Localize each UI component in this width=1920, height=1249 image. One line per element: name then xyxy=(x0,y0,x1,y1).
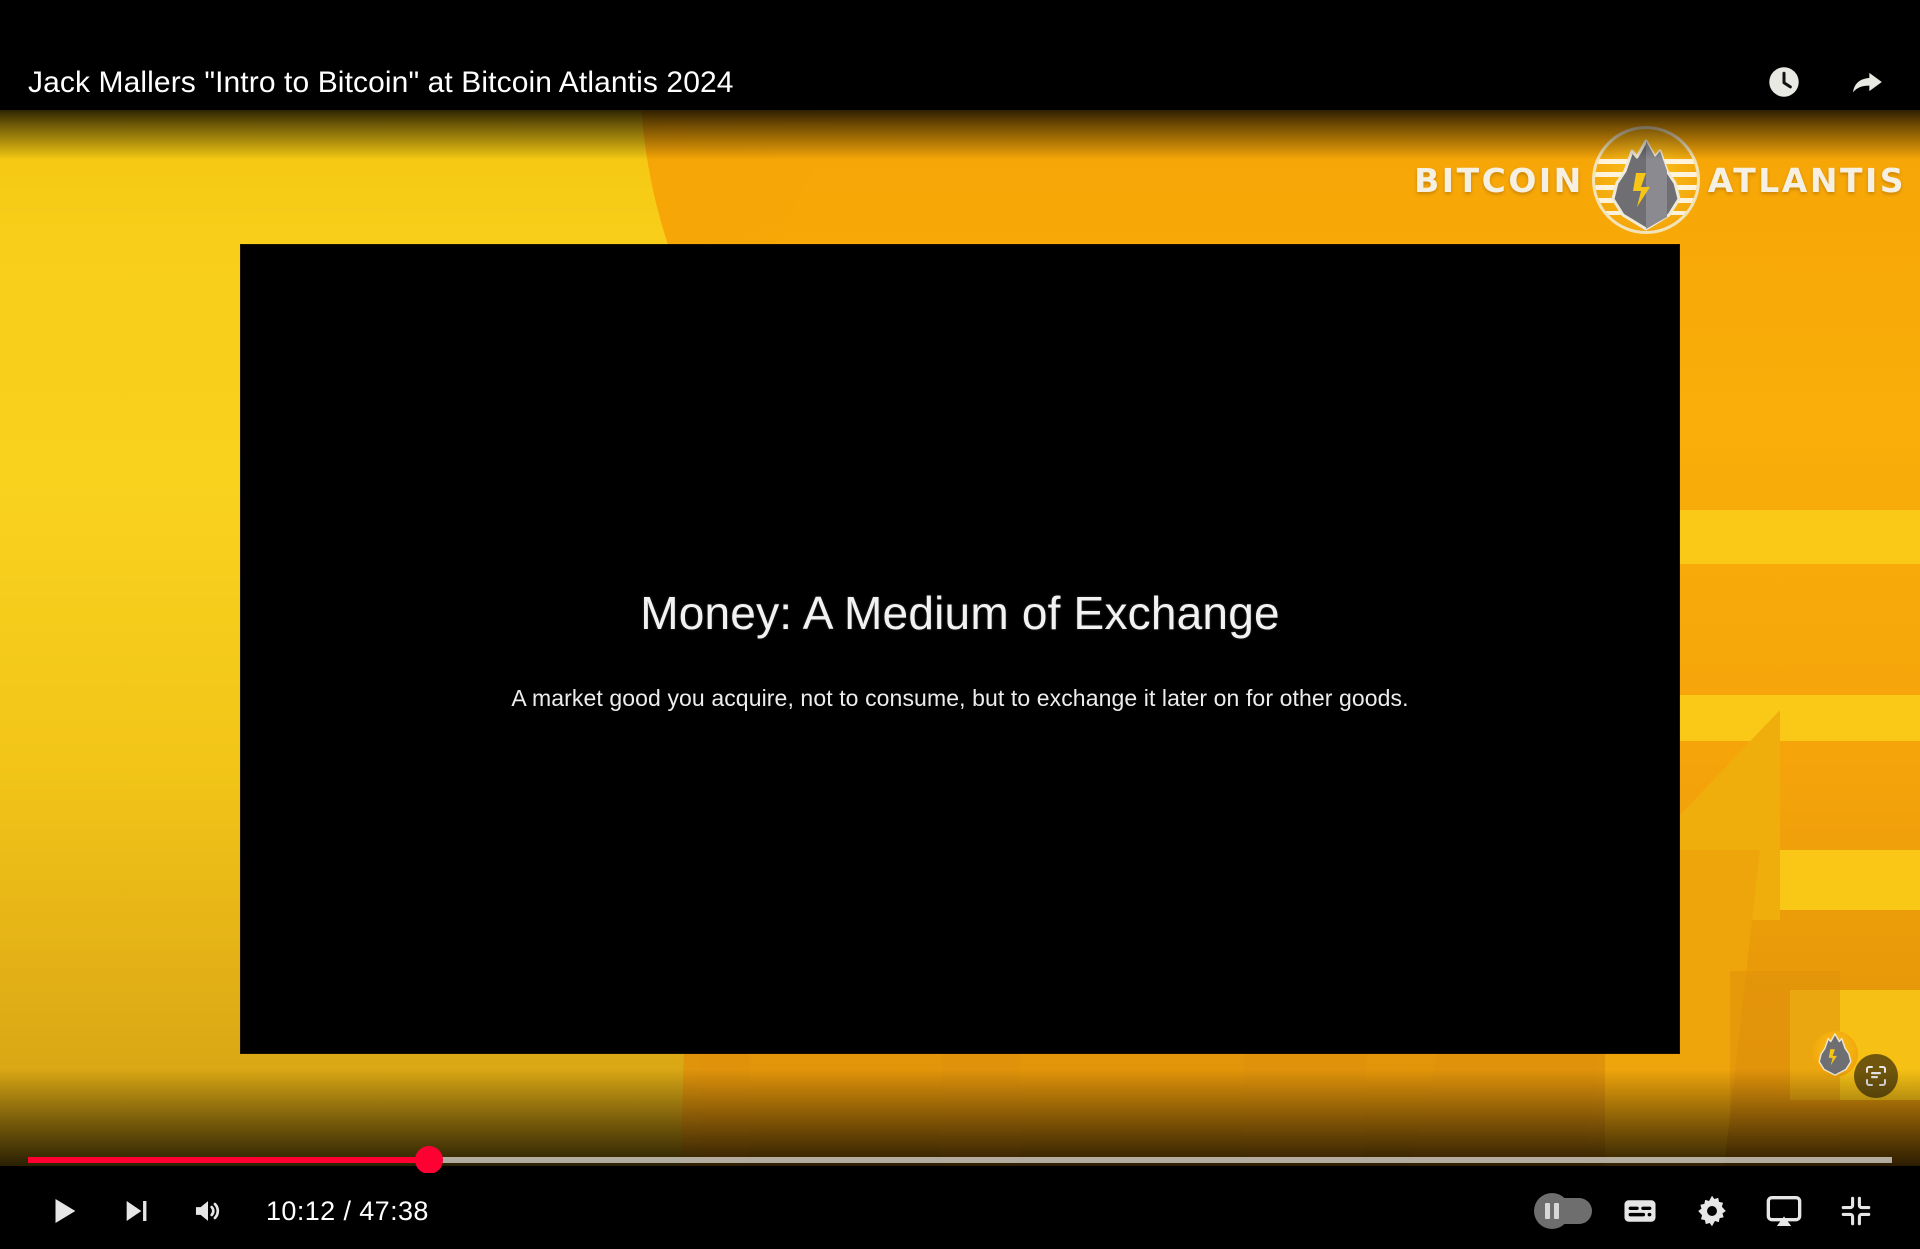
time-display: 10:12 / 47:38 xyxy=(244,1196,443,1227)
next-track-icon xyxy=(120,1195,152,1227)
subtitles-button[interactable] xyxy=(1604,1179,1676,1243)
share-icon xyxy=(1846,62,1886,102)
next-video-button[interactable] xyxy=(100,1179,172,1243)
exit-fullscreen-icon xyxy=(1839,1194,1873,1228)
video-surface[interactable]: BITCOIN ATLANTIS Money: A Medium of Exch… xyxy=(0,110,1920,1166)
autoplay-toggle-knob xyxy=(1534,1193,1570,1229)
watch-later-icon xyxy=(1765,63,1803,101)
settings-button[interactable] xyxy=(1676,1179,1748,1243)
presentation-slide: Money: A Medium of Exchange A market goo… xyxy=(241,245,1679,1053)
exit-fullscreen-button[interactable] xyxy=(1820,1179,1892,1243)
video-title: Jack Mallers "Intro to Bitcoin" at Bitco… xyxy=(28,66,734,100)
player-controls-right xyxy=(1526,1179,1892,1243)
scan-lens-badge[interactable] xyxy=(1854,1054,1898,1098)
share-button[interactable] xyxy=(1842,58,1890,106)
cast-button[interactable] xyxy=(1748,1179,1820,1243)
airplay-cast-icon xyxy=(1764,1191,1804,1231)
brand-text-atlantis: ATLANTIS xyxy=(1708,161,1906,200)
player-controls: 10:12 / 47:38 xyxy=(0,1173,1920,1249)
closed-captions-icon xyxy=(1621,1192,1659,1230)
volume-icon xyxy=(191,1194,225,1228)
pause-bar-left xyxy=(1545,1203,1550,1219)
autoplay-toggle[interactable] xyxy=(1526,1179,1604,1243)
slide-title: Money: A Medium of Exchange xyxy=(640,586,1280,640)
progress-bar[interactable] xyxy=(0,1149,1920,1171)
slide-subtitle: A market good you acquire, not to consum… xyxy=(511,685,1408,712)
watch-later-button[interactable] xyxy=(1760,58,1808,106)
player-controls-left: 10:12 / 47:38 xyxy=(28,1179,443,1243)
autoplay-toggle-track xyxy=(1538,1198,1592,1224)
progress-track[interactable] xyxy=(28,1157,1892,1163)
bitcoin-atlantis-avatar[interactable] xyxy=(1812,1031,1858,1077)
play-icon xyxy=(47,1194,81,1228)
play-button[interactable] xyxy=(28,1179,100,1243)
volume-button[interactable] xyxy=(172,1179,244,1243)
progress-scrubber[interactable] xyxy=(415,1146,443,1174)
top-actions xyxy=(1760,58,1890,106)
atlantis-mountain-icon xyxy=(1592,126,1700,234)
pause-bar-right xyxy=(1554,1203,1559,1219)
bitcoin-atlantis-logo: BITCOIN ATLANTIS xyxy=(1414,120,1906,240)
progress-played xyxy=(28,1157,429,1163)
video-player[interactable]: BITCOIN ATLANTIS Money: A Medium of Exch… xyxy=(0,0,1920,1249)
gear-icon xyxy=(1694,1193,1730,1229)
brand-text-bitcoin: BITCOIN xyxy=(1414,161,1584,200)
